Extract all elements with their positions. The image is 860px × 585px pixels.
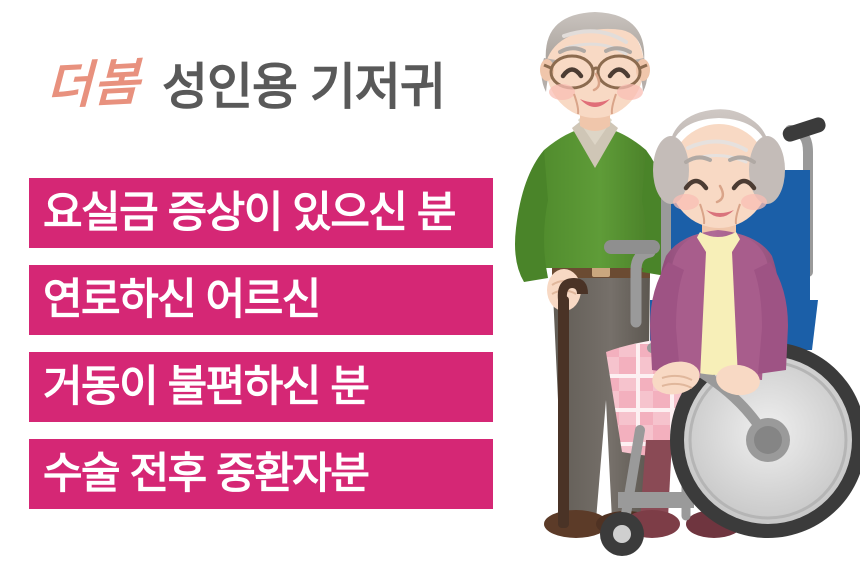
page-title: 성인용 기저귀 <box>162 62 445 112</box>
seated-elderly-woman <box>649 109 788 398</box>
benefit-row: 수술 전후 중환자분 <box>29 439 493 509</box>
benefit-row: 연로하신 어르신 <box>29 265 493 335</box>
benefit-row: 요실금 증상이 있으신 분 <box>29 178 493 248</box>
benefit-label: 거동이 불편하신 분 <box>43 366 368 409</box>
benefit-label: 요실금 증상이 있으신 분 <box>43 192 455 235</box>
promo-banner-root: 더봄 성인용 기저귀 요실금 증상이 있으신 분 연로하신 어르신 거동이 불편… <box>0 0 860 585</box>
headline: 더봄 성인용 기저귀 <box>46 62 445 112</box>
benefit-list: 요실금 증상이 있으신 분 연로하신 어르신 거동이 불편하신 분 수술 전후 … <box>29 178 493 509</box>
benefit-label: 수술 전후 중환자분 <box>43 453 368 496</box>
elderly-couple-wheelchair-illustration <box>500 0 860 585</box>
benefit-label: 연로하신 어르신 <box>43 279 320 322</box>
brand-logo-text: 더봄 <box>46 57 141 112</box>
benefit-row: 거동이 불편하신 분 <box>29 352 493 422</box>
